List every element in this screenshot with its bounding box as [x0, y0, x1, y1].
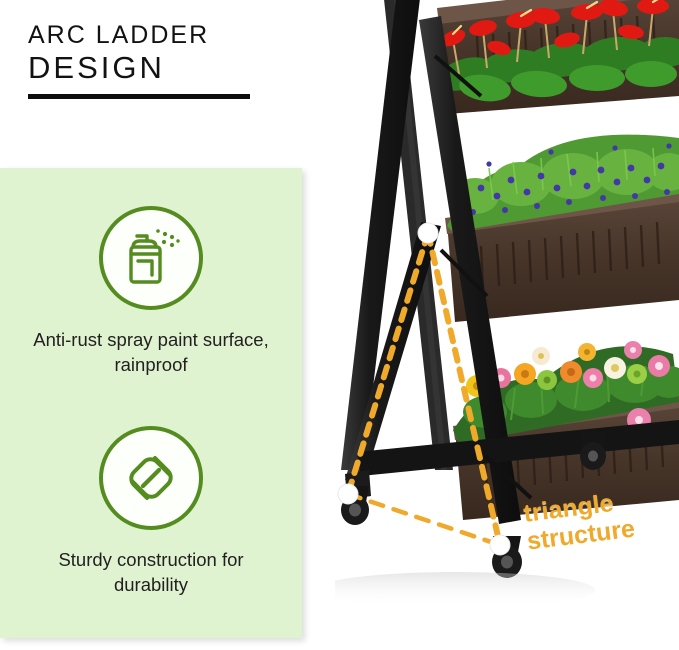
feature-panel: Anti-rust spray paint surface, rainproof — [0, 168, 302, 638]
brand-block: ARC LADDER DESIGN — [28, 22, 278, 99]
caster-left — [341, 486, 369, 525]
feature-item-sturdy: Sturdy construction for durability — [0, 426, 302, 598]
left-column: ARC LADDER DESIGN — [0, 0, 335, 650]
chain-link-icon — [120, 447, 182, 509]
product-photo — [335, 0, 679, 650]
spray-can-icon — [120, 225, 182, 291]
brand-name-line-1: ARC LADDER — [28, 22, 278, 48]
caster-rear — [580, 432, 607, 470]
caster-right — [492, 536, 522, 578]
feature-icon-circle — [99, 206, 203, 310]
brand-name-line-2: DESIGN — [28, 50, 278, 87]
product-infographic: ARC LADDER DESIGN — [0, 0, 679, 650]
product-photo-illustration — [335, 0, 679, 650]
feature-caption: Sturdy construction for durability — [0, 548, 302, 598]
feature-icon-circle — [99, 426, 203, 530]
feature-caption: Anti-rust spray paint surface, rainproof — [0, 328, 302, 378]
feature-item-anti-rust: Anti-rust spray paint surface, rainproof — [0, 206, 302, 378]
brand-underline-rule — [28, 94, 250, 99]
